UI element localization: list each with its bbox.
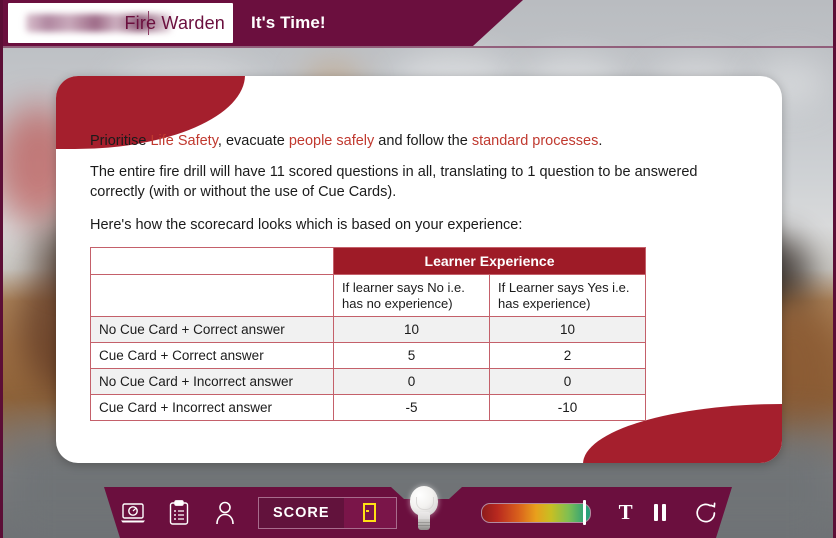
highlighted-phrase: Life Safety: [150, 133, 217, 149]
paragraph-list: Prioritise Life Safety, evacuate people …: [90, 132, 748, 235]
card-body: Prioritise Life Safety, evacuate people …: [90, 132, 748, 421]
score-label: SCORE: [259, 498, 344, 528]
progress-slider-knob[interactable]: [583, 500, 586, 525]
row-label: No Cue Card + Incorrect answer: [91, 369, 334, 395]
text-run: , evacuate: [218, 133, 289, 149]
pause-icon[interactable]: [643, 504, 677, 521]
paragraph-0: Prioritise Life Safety, evacuate people …: [90, 132, 748, 151]
text-run: The entire fire drill will have 11 score…: [90, 164, 697, 199]
table-col-header-1: If learner says No i.e. has no experienc…: [334, 275, 490, 317]
table-blank-corner: [91, 248, 334, 275]
table-row: Cue Card + Incorrect answer-5-10: [91, 395, 646, 421]
course-brand-title: Fire Warden: [124, 13, 225, 34]
text-run: and follow the: [374, 133, 472, 149]
row-label: Cue Card + Incorrect answer: [91, 395, 334, 421]
paragraph-1: The entire fire drill will have 11 score…: [90, 163, 748, 202]
row-label: Cue Card + Correct answer: [91, 343, 334, 369]
header-underline: [3, 46, 836, 48]
cell-no-experience: 0: [334, 369, 490, 395]
text-run: .: [598, 133, 602, 149]
text-run: Here's how the scorecard looks which is …: [90, 217, 522, 233]
table-group-header: Learner Experience: [334, 248, 646, 275]
table-row: No Cue Card + Incorrect answer00: [91, 369, 646, 395]
score-display: SCORE: [258, 497, 397, 529]
progress-slider[interactable]: [481, 503, 591, 523]
clipboard-checklist-icon[interactable]: [162, 496, 196, 530]
table-row: Cue Card + Correct answer52: [91, 343, 646, 369]
logo-plate: Fire Warden: [8, 3, 233, 43]
person-icon[interactable]: [208, 496, 242, 530]
page-title: It's Time!: [251, 13, 326, 33]
cell-yes-experience: 0: [490, 369, 646, 395]
laptop-dashboard-icon[interactable]: [116, 496, 150, 530]
top-header-bar: Fire Warden It's Time!: [3, 0, 523, 46]
table-col-header-2: If Learner says Yes i.e. has experience): [490, 275, 646, 317]
text-run: Prioritise: [90, 133, 150, 149]
score-value: [344, 498, 396, 528]
cell-yes-experience: 2: [490, 343, 646, 369]
highlighted-phrase: people safely: [289, 133, 374, 149]
score-value-glyph: [363, 503, 376, 522]
replay-icon[interactable]: [689, 496, 723, 530]
elearning-slide: Fire Warden It's Time! Prioritise Life S…: [0, 0, 836, 538]
cell-yes-experience: 10: [490, 317, 646, 343]
table-row: No Cue Card + Correct answer1010: [91, 317, 646, 343]
highlighted-phrase: standard processes: [472, 133, 599, 149]
scorecard-table: Learner Experience If learner says No i.…: [90, 247, 646, 421]
cell-no-experience: -5: [334, 395, 490, 421]
table-body: No Cue Card + Correct answer1010Cue Card…: [91, 317, 646, 421]
table-col-header-0: [91, 275, 334, 317]
cell-yes-experience: -10: [490, 395, 646, 421]
content-card: Prioritise Life Safety, evacuate people …: [56, 76, 782, 463]
paragraph-2: Here's how the scorecard looks which is …: [90, 216, 748, 235]
cell-no-experience: 10: [334, 317, 490, 343]
lightbulb-icon[interactable]: [404, 484, 444, 536]
table-group-header-row: Learner Experience: [91, 248, 646, 275]
table-column-header-row: If learner says No i.e. has no experienc…: [91, 275, 646, 317]
cell-no-experience: 5: [334, 343, 490, 369]
captions-toggle-icon[interactable]: T: [609, 500, 643, 525]
row-label: No Cue Card + Correct answer: [91, 317, 334, 343]
